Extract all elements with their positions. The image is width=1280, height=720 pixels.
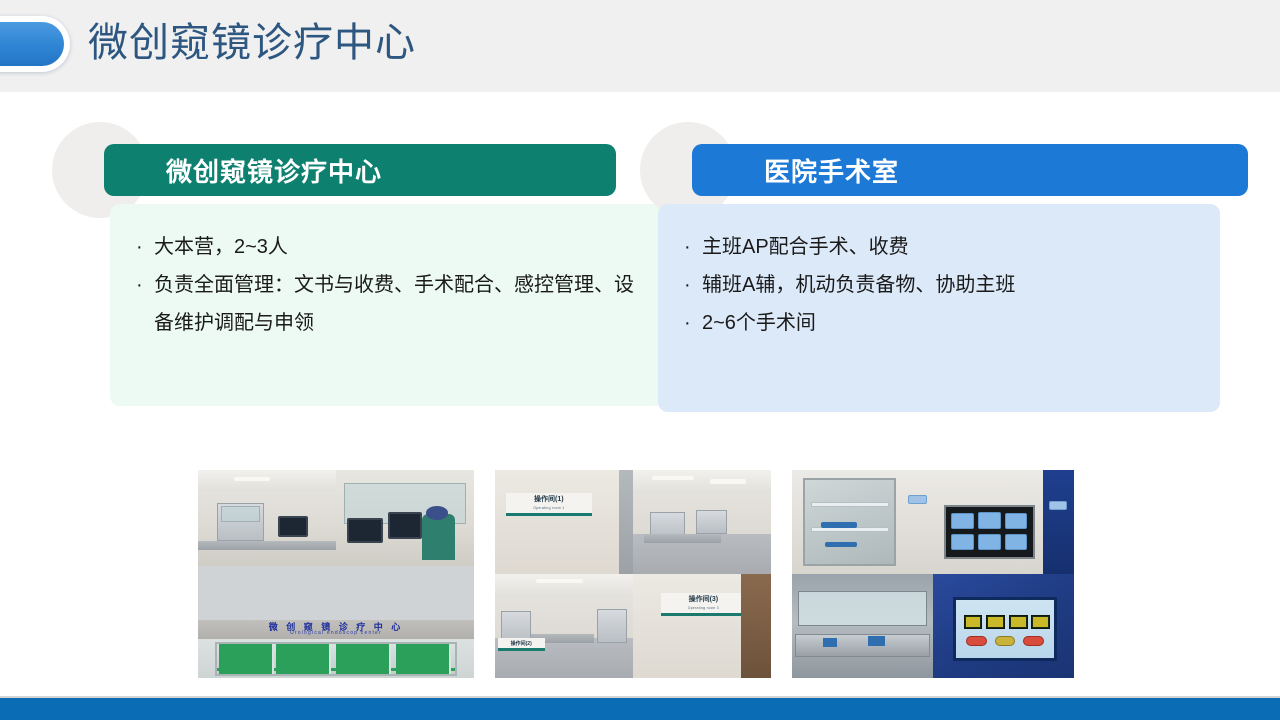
room-sign-3: 操作间(3) Operating room 3 bbox=[661, 593, 747, 616]
photo-cell-door-sign-1: 操作间(1) Operating room 1 bbox=[495, 470, 633, 574]
photo-clinic-entrance: 微 创 窥 镜 诊 疗 中 心 Urological endoscop cent… bbox=[198, 470, 474, 678]
blue-pill-badge-icon bbox=[0, 22, 64, 66]
photo-cell-workstation bbox=[336, 470, 474, 566]
list-item: · 主班AP配合手术、收费 bbox=[684, 228, 1194, 266]
bullet-text: 主班AP配合手术、收费 bbox=[702, 228, 1194, 266]
photo-cell-sterilizer-loaded bbox=[933, 470, 1074, 574]
photo-cell-washing-room bbox=[792, 574, 933, 678]
photo-cell-control-panel bbox=[933, 574, 1074, 678]
footer-bar bbox=[0, 698, 1280, 720]
photo-cell-or-interior-1 bbox=[633, 470, 771, 574]
photo-cell-door-sign-3: 操作间(3) Operating room 3 bbox=[633, 574, 771, 678]
list-item: · 2~6个手术间 bbox=[684, 304, 1194, 342]
photo-cell-sterilizer-open bbox=[792, 470, 933, 574]
bullet-text: 大本营，2~3人 bbox=[154, 228, 638, 266]
page-title: 微创窥镜诊疗中心 bbox=[88, 12, 416, 74]
room-sign-1: 操作间(1) Operating room 1 bbox=[506, 493, 592, 516]
photo-cell-or-interior-2: 操作间(2) bbox=[495, 574, 633, 678]
card-body-clinic: · 大本营，2~3人 · 负责全面管理：文书与收费、手术配合、感控管理、设备维护… bbox=[110, 204, 664, 406]
bullet-icon: · bbox=[684, 304, 702, 342]
card-header-operating-room: 医院手术室 bbox=[692, 144, 1248, 196]
header-badge bbox=[0, 16, 70, 72]
card-body-operating-room: · 主班AP配合手术、收费 · 辅班A辅，机动负责备物、协助主班 · 2~6个手… bbox=[658, 204, 1220, 412]
photo-operating-rooms: 操作间(1) Operating room 1 bbox=[495, 470, 771, 678]
bullet-icon: · bbox=[136, 266, 154, 342]
list-item: · 大本营，2~3人 bbox=[136, 228, 638, 266]
card-title-clinic: 微创窥镜诊疗中心 bbox=[166, 152, 382, 189]
list-item: · 负责全面管理：文书与收费、手术配合、感控管理、设备维护调配与申领 bbox=[136, 266, 638, 342]
bullet-icon: · bbox=[684, 228, 702, 266]
photo-cell-entrance: 微 创 窥 镜 诊 疗 中 心 Urological endoscop cent… bbox=[198, 566, 474, 678]
card-title-operating-room: 医院手术室 bbox=[764, 152, 899, 189]
entrance-sign-en: Urological endoscop center bbox=[220, 630, 452, 636]
bullet-text: 辅班A辅，机动负责备物、协助主班 bbox=[702, 266, 1194, 304]
bullet-text: 负责全面管理：文书与收费、手术配合、感控管理、设备维护调配与申领 bbox=[154, 266, 638, 342]
list-item: · 辅班A辅，机动负责备物、协助主班 bbox=[684, 266, 1194, 304]
bullet-text: 2~6个手术间 bbox=[702, 304, 1194, 342]
card-header-clinic: 微创窥镜诊疗中心 bbox=[104, 144, 616, 196]
photo-cell-reception bbox=[198, 470, 336, 566]
bullet-icon: · bbox=[684, 266, 702, 304]
slide: 微创窥镜诊疗中心 微创窥镜诊疗中心 · 大本营，2~3人 · 负责全面管理：文书… bbox=[0, 0, 1280, 720]
bullet-icon: · bbox=[136, 228, 154, 266]
photo-strip: 微 创 窥 镜 诊 疗 中 心 Urological endoscop cent… bbox=[198, 470, 1082, 678]
room-sign-2: 操作间(2) bbox=[498, 638, 545, 650]
photo-sterilization bbox=[792, 470, 1074, 678]
